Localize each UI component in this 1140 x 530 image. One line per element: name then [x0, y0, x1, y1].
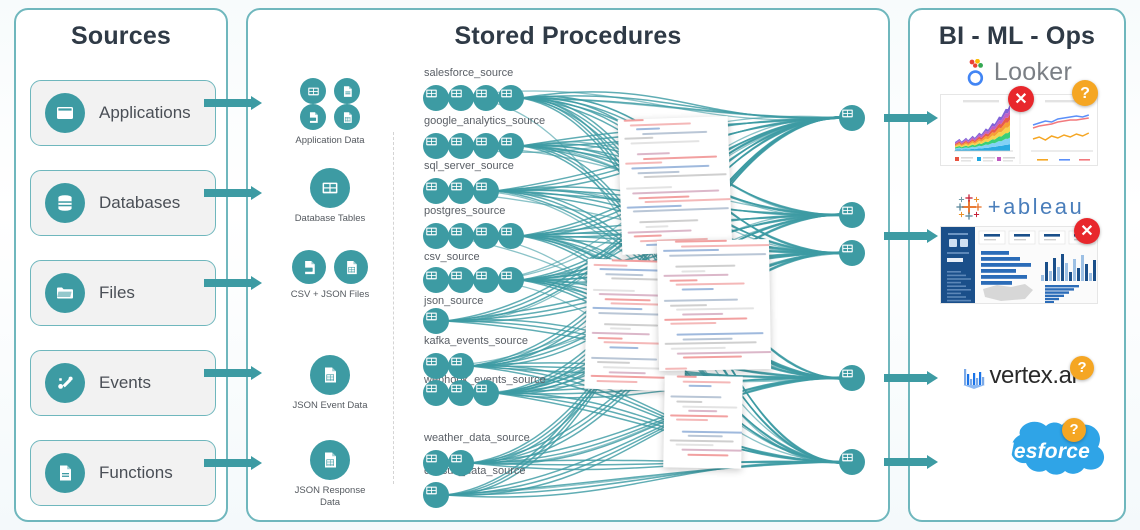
- code-line: [598, 337, 623, 340]
- code-line: [683, 338, 733, 341]
- database-cylinder-icon: [45, 183, 85, 223]
- source-card-files[interactable]: Files: [30, 260, 216, 326]
- code-line: [636, 128, 660, 131]
- code-line: [630, 140, 699, 144]
- salesforce-wordmark: salesforce: [972, 440, 1102, 464]
- code-line: [626, 186, 672, 190]
- arrow-shaft: [204, 189, 251, 197]
- code-line: [631, 165, 709, 170]
- source-table-node[interactable]: [423, 450, 449, 476]
- source-group-label: postgres_source: [424, 205, 505, 217]
- code-line: [664, 317, 747, 320]
- code-line: [675, 240, 727, 243]
- arrow-head: [251, 366, 262, 380]
- arrow-head: [927, 455, 938, 469]
- code-line: [681, 270, 705, 272]
- target-table-node[interactable]: [839, 240, 865, 266]
- tableau-error-badge[interactable]: ✕: [1074, 218, 1100, 244]
- code-line: [639, 220, 698, 224]
- source-table-node[interactable]: [473, 223, 499, 249]
- bi-ml-ops-panel: BI - ML - Ops Looker✕?+ableau✕vertex.ai?…: [908, 8, 1126, 522]
- source-table-node[interactable]: [498, 267, 524, 293]
- code-line: [605, 298, 651, 301]
- code-line: [645, 198, 733, 203]
- arrow-head: [927, 111, 938, 125]
- arrow-source-to-assets-2: [204, 276, 262, 290]
- code-line: [687, 453, 728, 456]
- code-line: [676, 308, 754, 311]
- arrow-source-to-assets-0: [204, 96, 262, 110]
- code-line: [682, 313, 723, 316]
- code-line: [682, 430, 743, 433]
- code-line: [688, 410, 717, 413]
- source-table-node[interactable]: [423, 353, 449, 379]
- source-card-label: Files: [99, 283, 135, 303]
- code-line: [628, 229, 692, 233]
- code-line: [683, 356, 742, 359]
- code-line: [645, 225, 668, 228]
- function-document-icon: [45, 453, 85, 493]
- source-table-node[interactable]: [448, 85, 474, 111]
- vertex-ai-wordmark: vertex.ai: [989, 362, 1076, 390]
- code-line: [643, 155, 717, 160]
- code-line: [663, 274, 728, 277]
- lineage-graph: salesforce_sourcegoogle_analytics_source…: [246, 8, 890, 522]
- code-line: [670, 279, 698, 281]
- arrow-source-to-assets-3: [204, 366, 262, 380]
- code-line: [688, 435, 723, 438]
- source-group-label: google_analytics_source: [424, 115, 545, 127]
- source-table-node[interactable]: [473, 85, 499, 111]
- arrow-source-to-assets-1: [204, 186, 262, 200]
- arrow-head: [927, 229, 938, 243]
- code-line: [591, 357, 657, 361]
- code-line: [638, 195, 689, 199]
- arrow-shaft: [204, 459, 251, 467]
- source-table-node[interactable]: [448, 267, 474, 293]
- arrow-shaft: [884, 374, 927, 382]
- arrow-shaft: [204, 279, 251, 287]
- code-line: [670, 396, 721, 399]
- source-table-node[interactable]: [498, 85, 524, 111]
- looker-logo: Looker: [910, 58, 1128, 87]
- arrow-procedures-to-output-2: [884, 371, 938, 385]
- sources-panel-title: Sources: [16, 22, 226, 51]
- source-group-label: csv_source: [424, 251, 480, 263]
- code-line: [596, 380, 637, 383]
- source-table-node[interactable]: [423, 178, 449, 204]
- source-table-node[interactable]: [423, 133, 449, 159]
- source-card-label: Databases: [99, 193, 180, 213]
- source-card-label: Applications: [99, 103, 191, 123]
- target-table-node[interactable]: [839, 202, 865, 228]
- code-line: [670, 439, 734, 442]
- source-table-node[interactable]: [423, 380, 449, 406]
- source-table-node[interactable]: [423, 482, 449, 508]
- code-line: [676, 401, 702, 403]
- target-table-node[interactable]: [839, 105, 865, 131]
- code-line: [609, 346, 638, 349]
- output-salesforce[interactable]: salesforce?: [910, 414, 1128, 493]
- code-line: [632, 189, 719, 194]
- arrow-shaft: [884, 232, 927, 240]
- code-line: [670, 322, 716, 325]
- output-looker[interactable]: Looker✕?: [910, 58, 1128, 87]
- arrow-shaft: [204, 99, 251, 107]
- source-card-functions[interactable]: Functions: [30, 440, 216, 506]
- target-table-node[interactable]: [839, 449, 865, 475]
- code-line: [605, 273, 643, 276]
- code-line: [676, 444, 714, 447]
- arrow-head: [251, 276, 262, 290]
- diagram-canvas: Sources ApplicationsDatabasesFilesEvents…: [0, 0, 1140, 530]
- output-tableau[interactable]: +ableau✕: [910, 192, 1128, 222]
- arrow-head: [927, 371, 938, 385]
- code-line: [676, 419, 708, 422]
- stored-procedure-code-card[interactable]: [618, 116, 733, 255]
- code-line: [604, 323, 658, 326]
- tableau-wordmark: +ableau: [988, 194, 1084, 220]
- output-vertex-ai[interactable]: vertex.ai?: [910, 362, 1128, 390]
- source-table-node[interactable]: [473, 380, 499, 406]
- code-line: [665, 368, 687, 370]
- source-table-node[interactable]: [423, 223, 449, 249]
- code-line: [642, 131, 707, 135]
- source-group-label: weather_data_source: [424, 432, 530, 444]
- code-line: [638, 170, 680, 173]
- arrow-procedures-to-output-3: [884, 455, 938, 469]
- code-line: [630, 122, 691, 126]
- code-line: [604, 341, 666, 345]
- source-table-node[interactable]: [423, 308, 449, 334]
- code-line: [681, 244, 771, 248]
- looker-wordmark: Looker: [994, 58, 1072, 87]
- code-line: [677, 351, 771, 355]
- tableau-logo: +ableau: [910, 192, 1128, 222]
- code-line: [592, 307, 642, 310]
- code-line: [624, 137, 653, 140]
- source-group-label: kafka_events_source: [424, 335, 528, 347]
- code-line: [634, 235, 662, 238]
- vertex-ai-logo: vertex.ai: [910, 362, 1128, 390]
- sources-panel: Sources ApplicationsDatabasesFilesEvents…: [14, 8, 228, 522]
- code-line: [625, 162, 662, 165]
- source-table-node[interactable]: [473, 267, 499, 293]
- source-table-node[interactable]: [448, 133, 474, 159]
- arrow-shaft: [204, 369, 251, 377]
- code-line: [683, 380, 731, 383]
- source-table-node[interactable]: [498, 223, 524, 249]
- source-table-node[interactable]: [498, 133, 524, 159]
- code-line: [663, 249, 719, 252]
- code-line: [665, 342, 757, 346]
- source-group-label: sql_server_source: [424, 160, 514, 172]
- folder-icon: [45, 273, 85, 313]
- stored-procedure-code-card[interactable]: [663, 375, 743, 468]
- source-table-node[interactable]: [473, 133, 499, 159]
- code-line: [597, 361, 630, 364]
- code-line: [682, 288, 714, 291]
- code-line: [689, 385, 712, 387]
- code-line: [591, 375, 665, 379]
- code-line: [610, 328, 631, 331]
- code-line: [609, 371, 646, 374]
- code-line: [676, 332, 763, 336]
- arrow-shaft: [884, 114, 927, 122]
- code-line: [627, 204, 682, 208]
- code-line: [593, 288, 635, 291]
- code-line: [592, 332, 650, 336]
- code-line: [664, 299, 738, 302]
- code-line: [670, 414, 728, 417]
- source-group-label: json_source: [424, 295, 483, 307]
- looker-warning-badge[interactable]: ?: [1072, 80, 1098, 106]
- code-line: [675, 265, 735, 268]
- code-line: [681, 449, 742, 452]
- outputs-panel-title: BI - ML - Ops: [910, 22, 1124, 51]
- arrow-head: [251, 186, 262, 200]
- code-line: [670, 304, 707, 307]
- source-card-label: Events: [99, 373, 151, 393]
- source-card-events[interactable]: Events: [30, 350, 216, 416]
- code-line: [644, 173, 727, 178]
- code-line: [671, 347, 726, 350]
- source-group-label: salesforce_source: [424, 67, 513, 79]
- source-table-node[interactable]: [473, 178, 499, 204]
- source-table-node[interactable]: [448, 353, 474, 379]
- arrow-procedures-to-output-1: [884, 229, 938, 243]
- code-line: [677, 376, 697, 378]
- arrow-head: [251, 96, 262, 110]
- source-card-applications[interactable]: Applications: [30, 80, 216, 146]
- arrow-procedures-to-output-0: [884, 111, 938, 125]
- source-table-node[interactable]: [448, 380, 474, 406]
- source-table-node[interactable]: [448, 178, 474, 204]
- arrow-shaft: [884, 458, 927, 466]
- arrow-source-to-assets-4: [204, 456, 262, 470]
- tableau-dashboard-thumbnail[interactable]: [940, 226, 1098, 304]
- source-table-node[interactable]: [448, 450, 474, 476]
- looker-error-badge[interactable]: ✕: [1008, 86, 1034, 112]
- stored-procedure-code-card[interactable]: [657, 239, 771, 371]
- code-line: [682, 405, 737, 408]
- vertex-ai-warning-badge[interactable]: ?: [1070, 356, 1094, 380]
- arrow-head: [251, 456, 262, 470]
- code-line: [669, 253, 766, 257]
- salesforce-warning-badge[interactable]: ?: [1062, 418, 1086, 442]
- code-line: [624, 119, 644, 122]
- event-stream-icon: [45, 363, 85, 403]
- source-table-node[interactable]: [423, 267, 449, 293]
- code-line: [676, 283, 745, 286]
- code-line: [637, 152, 670, 155]
- code-line: [594, 263, 628, 266]
- source-card-databases[interactable]: Databases: [30, 170, 216, 236]
- application-window-icon: [45, 93, 85, 133]
- target-table-node[interactable]: [839, 365, 865, 391]
- source-table-node[interactable]: [423, 85, 449, 111]
- source-table-node[interactable]: [448, 223, 474, 249]
- source-card-label: Functions: [99, 463, 173, 483]
